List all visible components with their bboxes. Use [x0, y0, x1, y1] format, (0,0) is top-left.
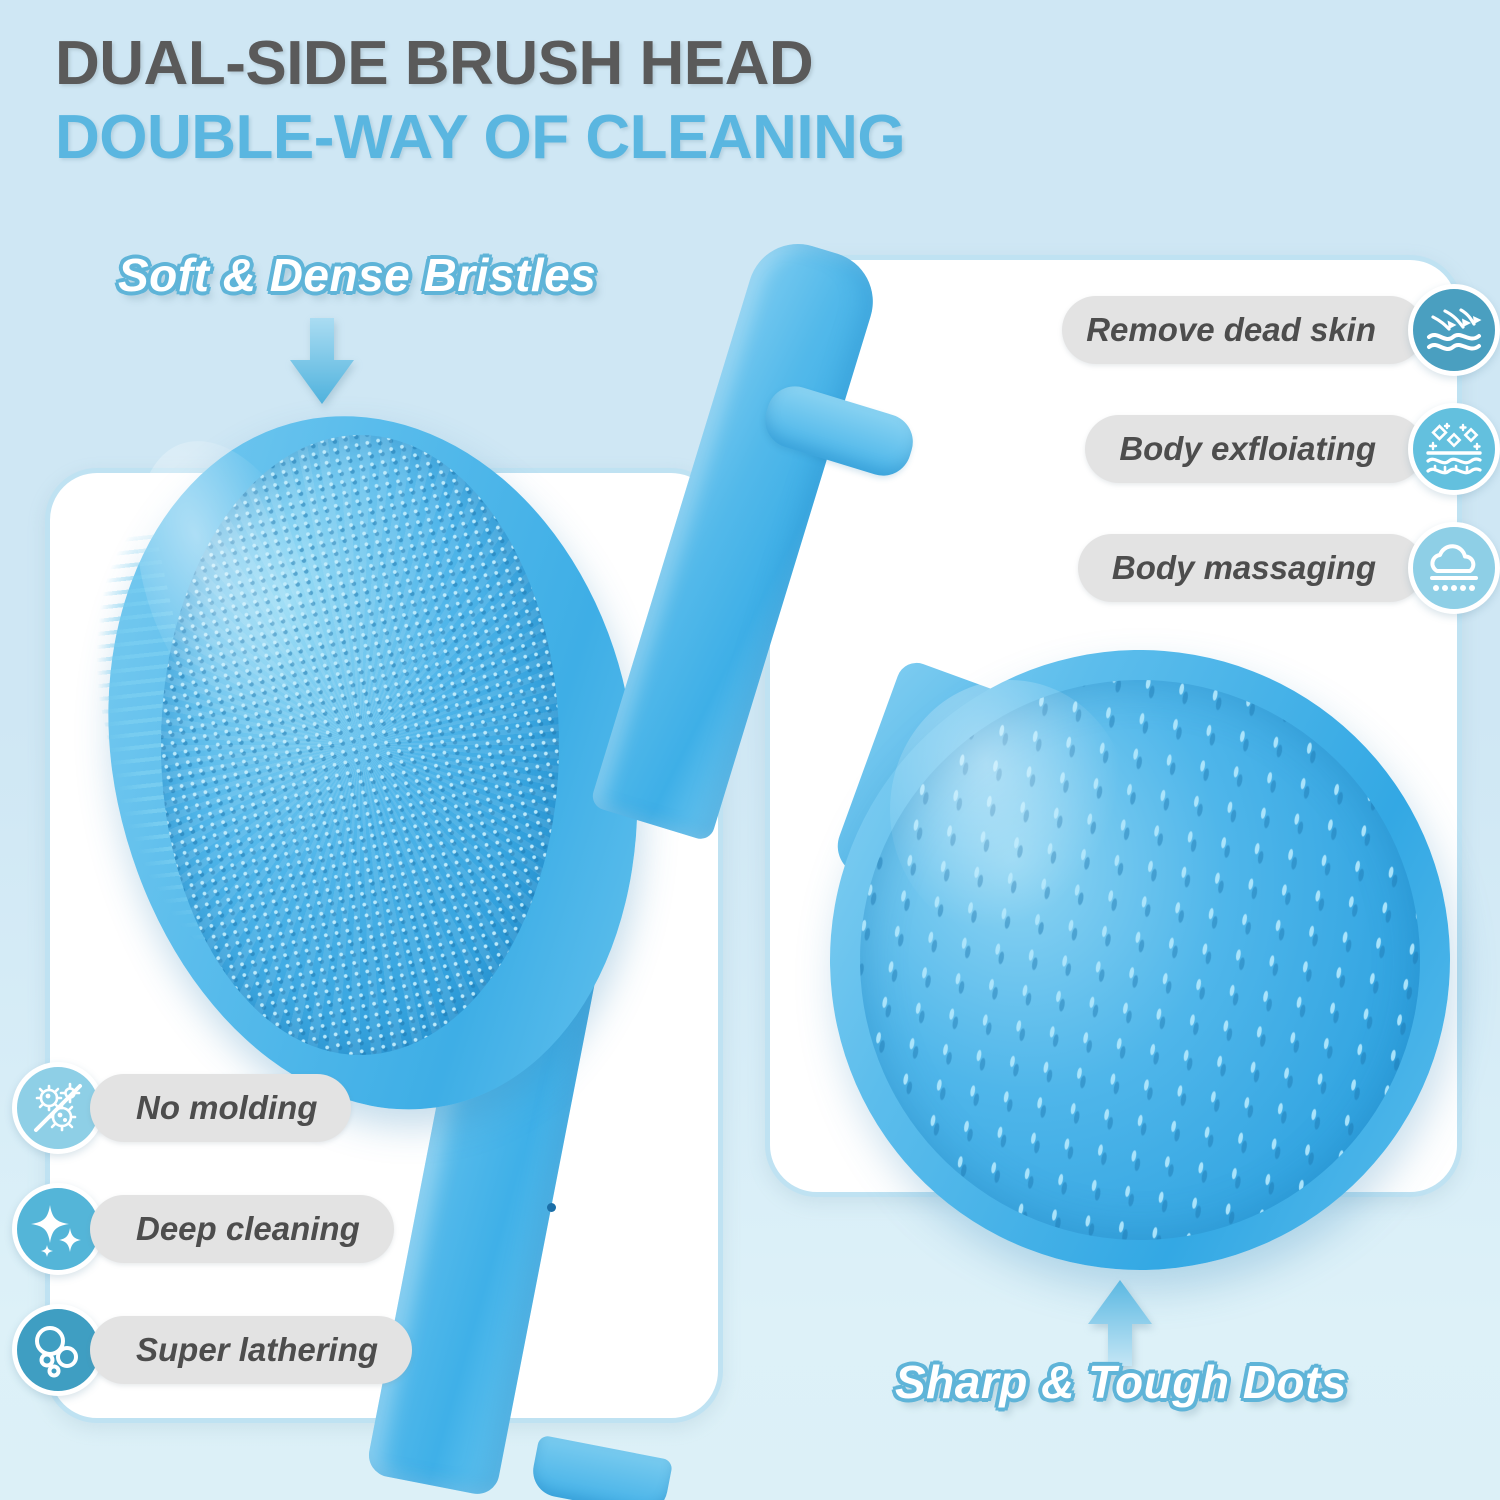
arrow-down-icon	[282, 318, 362, 404]
feature-item-remove-dead-skin[interactable]: Remove dead skin	[1025, 284, 1500, 376]
callout-soft-dense-bristles: Soft & Dense Bristles	[118, 248, 596, 302]
feature-label: Body exfloiating	[1085, 415, 1424, 483]
feature-label: Super lathering	[90, 1316, 412, 1384]
brush-left-handle-end	[529, 1435, 674, 1500]
feature-item-body-massaging[interactable]: Body massaging	[1053, 522, 1500, 614]
feature-item-super-lathering[interactable]: Super lathering	[12, 1304, 452, 1396]
feature-label: No molding	[90, 1074, 351, 1142]
headline-line-2: DOUBLE-WAY OF CLEANING	[55, 106, 1355, 170]
feature-list-right: Remove dead skin	[1025, 284, 1500, 641]
feature-item-no-molding[interactable]: No molding	[12, 1062, 452, 1154]
sparkle-waves-icon	[1408, 403, 1500, 495]
page-title: DUAL-SIDE BRUSH HEAD DOUBLE-WAY OF CLEAN…	[55, 32, 1355, 171]
infographic-canvas: DUAL-SIDE BRUSH HEAD DOUBLE-WAY OF CLEAN…	[0, 0, 1500, 1500]
feature-label: Remove dead skin	[1062, 296, 1424, 364]
callout-sharp-tough-dots: Sharp & Tough Dots	[895, 1355, 1347, 1409]
feature-label: Deep cleaning	[90, 1195, 394, 1263]
arrows-waves-icon	[1408, 284, 1500, 376]
feature-item-deep-cleaning[interactable]: Deep cleaning	[12, 1183, 452, 1275]
brush-left-pinhole	[547, 1203, 556, 1212]
feature-item-body-exfoliating[interactable]: Body exfloiating	[1025, 403, 1500, 495]
arrow-up-icon	[1080, 1280, 1160, 1366]
feature-list-left: No molding Deep cleaning	[12, 1062, 452, 1425]
brush-right-highlight	[890, 680, 1130, 940]
cloud-dots-icon	[1408, 522, 1500, 614]
feature-label: Body massaging	[1078, 534, 1424, 602]
headline-line-1: DUAL-SIDE BRUSH HEAD	[55, 32, 1355, 96]
